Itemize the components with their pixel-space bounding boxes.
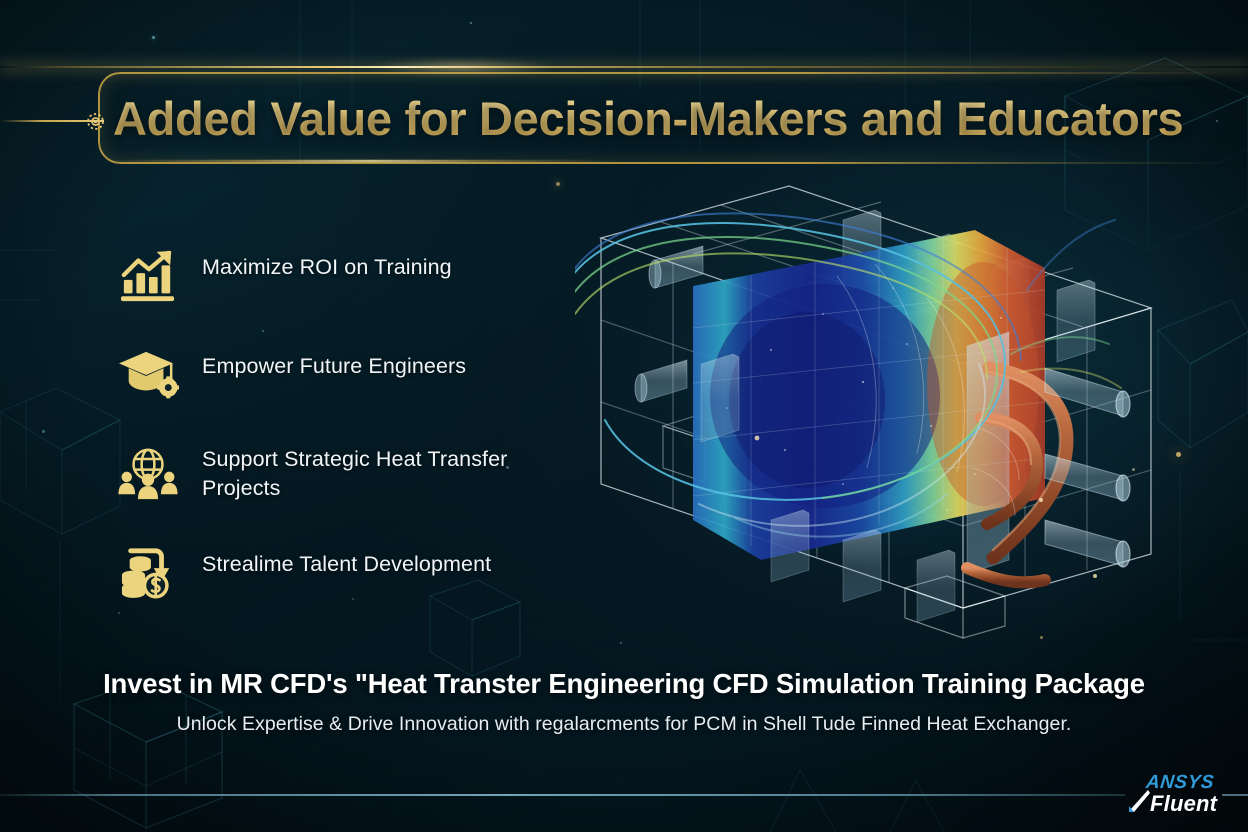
logo-secondary-text: Fluent [1150, 791, 1217, 817]
cost-savings-icon [112, 540, 184, 606]
list-item-label: Empower Future Engineers [202, 342, 466, 381]
footer-divider [0, 794, 1125, 796]
graduation-gear-icon [112, 342, 184, 408]
benefits-list: Maximize ROI on Training [112, 243, 582, 639]
list-item-label: Support Strategic Heat Transfer Projects [202, 441, 532, 503]
growth-chart-icon [112, 243, 184, 309]
cfd-render-svg [575, 168, 1175, 648]
growth-chart-icon-glyph [117, 248, 179, 304]
globe-people-icon [112, 441, 184, 507]
speck [1176, 452, 1181, 457]
list-item: Maximize ROI on Training [112, 243, 582, 309]
cost-savings-icon-glyph [117, 545, 179, 601]
title-underline-glow [100, 160, 620, 162]
slide-root: Added Value for Decision-Makers and Educ… [0, 0, 1248, 832]
speck [470, 22, 472, 24]
cta-subline: Unlock Expertise & Drive Innovation with… [0, 713, 1248, 736]
list-item: Empower Future Engineers [112, 342, 582, 408]
gear-icon [80, 106, 110, 136]
graduation-gear-icon-glyph [117, 347, 179, 403]
globe-people-icon-glyph [117, 446, 179, 502]
gear-icon-glyph [82, 108, 109, 135]
ansys-fluent-logo: ANSYS Fluent [1128, 772, 1232, 822]
list-item: Support Strategic Heat Transfer Projects [112, 441, 582, 507]
list-item: Strealime Talent Development [112, 540, 582, 606]
list-item-label: Maximize ROI on Training [202, 243, 452, 282]
list-item-label: Strealime Talent Development [202, 540, 491, 579]
cfd-heat-exchanger-render [575, 168, 1175, 648]
cta-headline: Invest in MR CFD's "Heat Transter Engine… [0, 668, 1248, 700]
speck [556, 182, 560, 186]
header-top-rule [0, 66, 1248, 68]
speck [42, 430, 45, 433]
speck [152, 36, 155, 39]
page-title: Added Value for Decision-Makers and Educ… [113, 88, 1203, 150]
